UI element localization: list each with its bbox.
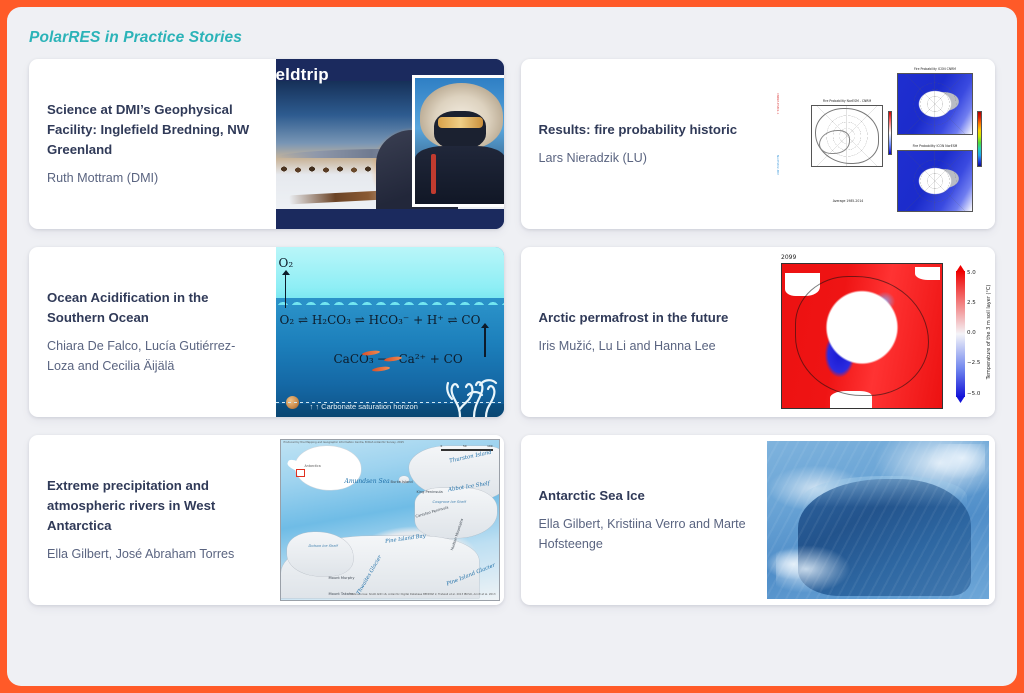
- card-text: Arctic permafrost in the future Iris Muž…: [521, 247, 768, 417]
- story-thumbnail-ocean-acidification-diagram[interactable]: O₂ O₂ ⇌ H₂CO₃ ⇌ HCO₃⁻ + H⁺ ⇌ CO CaCO₃ ⟶ …: [276, 247, 504, 417]
- inset-extent-box: [296, 469, 305, 477]
- left-axis-label-red: CNRM-ESM2-1: [775, 93, 779, 114]
- map-label-mount-murphy: Mount Murphy: [329, 576, 355, 580]
- map-label-amundsen-sea: Amundsen Sea: [345, 478, 390, 485]
- coral-icon: [442, 365, 504, 417]
- ocean-acidification-image: O₂ O₂ ⇌ H₂CO₃ ⇌ HCO₃⁻ + H⁺ ⇌ CO CaCO₃ ⟶ …: [276, 247, 504, 417]
- antarctica-map: Produced by the Mapping and Geographic I…: [280, 439, 500, 601]
- colorbar-group: 5.0 2.5 0.0 −2.5 −5.0: [956, 271, 965, 397]
- carbonate-equation-top: O₂ ⇌ H₂CO₃ ⇌ HCO₃⁻ + H⁺ ⇌ CO: [280, 313, 481, 327]
- story-thumbnail-greenland-fieldtrip-slide[interactable]: eldtrip: [276, 59, 504, 229]
- panel-title-left: Fire Probability NorESM - CNRM: [809, 99, 885, 103]
- parka-zipper: [431, 154, 436, 194]
- ice-texture: [767, 441, 989, 599]
- map-mask-b: [915, 267, 941, 280]
- story-title: Antarctic Sea Ice: [539, 486, 754, 506]
- scalebar-value: 50: [463, 444, 467, 448]
- graticule: [898, 151, 972, 211]
- colorbar-tick: 5.0: [967, 271, 993, 277]
- colorbar-tick: −5.0: [967, 392, 993, 398]
- story-card-ocean-acidification[interactable]: Ocean Acidification in the Southern Ocea…: [29, 247, 504, 417]
- colorbar-diff: [888, 111, 892, 155]
- map-label-dotson-ice-shelf: Dotson Ice Shelf: [309, 544, 338, 548]
- card-text: Science at DMI’s Geophysical Facility: I…: [29, 59, 276, 229]
- card-text: Extreme precipitation and atmospheric ri…: [29, 435, 276, 605]
- flux-arrow-left-icon: [285, 274, 287, 308]
- satellite-scene: [767, 441, 989, 599]
- story-authors: Iris Mužić, Lu Li and Hanna Lee: [539, 337, 754, 357]
- gas-label: O₂: [279, 256, 294, 270]
- parka: [415, 146, 504, 204]
- card-text: Antarctic Sea Ice Ella Gilbert, Kristiin…: [521, 435, 768, 605]
- portrait-inset-photo: [412, 75, 504, 207]
- story-card-antarctic-sea-ice[interactable]: Antarctic Sea Ice Ella Gilbert, Kristiin…: [521, 435, 996, 605]
- story-authors: Ruth Mottram (DMI): [47, 169, 262, 189]
- story-title: Extreme precipitation and atmospheric ri…: [47, 476, 262, 536]
- card-text: Results: fire probability historic Lars …: [521, 59, 768, 229]
- permafrost-map: [781, 263, 943, 409]
- graticule: [898, 74, 972, 134]
- section-header: PolarRES in Practice Stories: [7, 7, 1017, 59]
- map-year-label: 2099: [781, 254, 796, 261]
- scalebar-values: 0 50 100: [441, 444, 493, 448]
- story-thumbnail-arctic-permafrost-map[interactable]: 2099 5.0 2.5 0.0 −2.: [767, 247, 995, 417]
- story-thumbnail-fire-probability-figure[interactable]: CNRM-ESM2-1 NorESM2-MM Fire Probability …: [767, 59, 995, 229]
- equation-text: O₂ ⇌ H₂CO₃ ⇌ HCO₃⁻ + H⁺ ⇌ CO: [280, 313, 481, 327]
- flux-arrow-right-icon: [484, 327, 486, 358]
- story-authors: Ella Gilbert, Kristiina Verro and Marte …: [539, 515, 754, 554]
- map-label-burke-island: Burke Island: [391, 480, 413, 484]
- story-title: Results: fire probability historic: [539, 120, 754, 140]
- story-card-arctic-permafrost[interactable]: Arctic permafrost in the future Iris Muž…: [521, 247, 996, 417]
- arctic-permafrost-image: 2099 5.0 2.5 0.0 −2.: [767, 247, 995, 417]
- scalebar-value: 0: [441, 444, 443, 448]
- story-card-fire-probability[interactable]: Results: fire probability historic Lars …: [521, 59, 996, 229]
- story-title: Arctic permafrost in the future: [539, 308, 754, 328]
- story-authors: Ella Gilbert, José Abraham Torres: [47, 545, 262, 565]
- scalebar-value: 100: [487, 444, 492, 448]
- coastline-secondary: [819, 130, 850, 154]
- story-thumbnail-west-antarctica-map[interactable]: Produced by the Mapping and Geographic I…: [276, 435, 504, 605]
- map-noresm-cnrm: [811, 105, 883, 167]
- wave-surface: [276, 298, 504, 310]
- goggles: [438, 117, 483, 128]
- land-dotson: [287, 532, 353, 576]
- page-title: PolarRES in Practice Stories: [29, 29, 1017, 47]
- fieldtrip-slide-image: eldtrip: [276, 59, 504, 229]
- story-title: Science at DMI’s Geophysical Facility: I…: [47, 100, 262, 160]
- colorbar-axis-label: Temperature of the 3 m soil layer (°C): [986, 285, 992, 380]
- colorbar-probability: [977, 111, 982, 167]
- sea-ice-satellite-image: [767, 435, 995, 605]
- left-axis-label-blue: NorESM2-MM: [775, 155, 779, 175]
- stories-grid: Science at DMI’s Geophysical Facility: I…: [7, 59, 1017, 623]
- story-authors: Chiara De Falco, Lucía Gutiérrez-Loza an…: [47, 337, 262, 376]
- figure-caption: Average 1985-2014: [813, 199, 883, 203]
- inset-label: Antarctica: [305, 464, 321, 468]
- fire-probability-figure-image: CNRM-ESM2-1 NorESM2-MM Fire Probability …: [767, 59, 995, 229]
- panel-title-bottom-right: Fire Probability ICON NorESM: [893, 144, 977, 148]
- story-title: Ocean Acidification in the Southern Ocea…: [47, 288, 262, 328]
- app-frame: PolarRES in Practice Stories Science at …: [7, 7, 1017, 686]
- story-card-extreme-precipitation[interactable]: Extreme precipitation and atmospheric ri…: [29, 435, 504, 605]
- map-label-cosgrove-ice-shelf: Cosgrove Ice Shelf: [433, 500, 466, 504]
- colorbar-soil-temperature: [956, 271, 965, 397]
- story-thumbnail-antarctic-sea-ice-satellite[interactable]: [767, 435, 995, 605]
- panel-title-top-right: Fire Probability ICON CNRM: [893, 67, 977, 71]
- card-text: Ocean Acidification in the Southern Ocea…: [29, 247, 276, 417]
- saturation-horizon-label: ↑ ↑ Carbonate saturation horizon: [310, 402, 418, 411]
- sky: [276, 247, 504, 305]
- map-icon-cnrm: [897, 73, 973, 135]
- slide-heading: eldtrip: [276, 65, 329, 85]
- west-antarctica-image: Produced by the Mapping and Geographic I…: [276, 435, 504, 605]
- map-label-king-peninsula: King Peninsula: [417, 490, 443, 494]
- map-credit-bottom: Data sources: SCAR ADD v6, Antarctic Dig…: [350, 593, 495, 597]
- slide-bottom-band: [276, 209, 504, 229]
- map-credit-top: Produced by the Mapping and Geographic I…: [284, 441, 404, 444]
- story-card-greenland[interactable]: Science at DMI’s Geophysical Facility: I…: [29, 59, 504, 229]
- story-authors: Lars Nieradzik (LU): [539, 149, 754, 169]
- map-icon-noresm: [897, 150, 973, 212]
